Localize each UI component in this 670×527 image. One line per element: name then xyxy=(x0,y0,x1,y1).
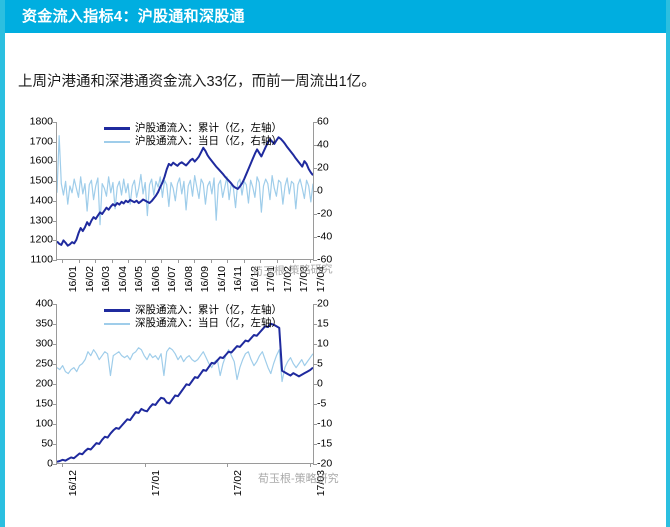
right-axis-tick-label: -20 xyxy=(317,459,332,470)
x-axis-tick xyxy=(310,463,311,467)
chart1-legend-label-cumulative: 沪股通流入：累计（亿，左轴） xyxy=(135,122,282,135)
x-axis-tick xyxy=(211,259,212,263)
left-axis-tick xyxy=(53,444,57,445)
series-line xyxy=(57,348,313,382)
x-axis-tick-label: 16/04 xyxy=(117,266,129,292)
left-axis-tick-label: 1100 xyxy=(30,255,53,266)
left-axis-tick xyxy=(53,240,57,241)
left-axis-tick-label: 1200 xyxy=(30,235,53,246)
right-axis-tick-label: 10 xyxy=(317,339,329,350)
left-axis-tick-label: 1400 xyxy=(30,195,53,206)
left-axis-tick xyxy=(53,201,57,202)
chart1-legend-item-daily: 沪股通流入：当日（亿，右轴） xyxy=(104,135,282,148)
left-axis-tick-label: 0 xyxy=(47,459,53,470)
x-axis-tick-label: 16/12 xyxy=(67,470,79,496)
x-axis-tick-label: 16/03 xyxy=(100,266,112,292)
chart1-legend-label-daily: 沪股通流入：当日（亿，右轴） xyxy=(135,135,282,148)
left-axis-tick-label: 400 xyxy=(35,299,53,310)
left-axis-tick-label: 100 xyxy=(35,419,53,430)
x-axis-tick-label: 16/06 xyxy=(150,266,162,292)
right-axis-tick-label: -20 xyxy=(317,209,332,220)
left-axis-tick xyxy=(53,304,57,305)
left-axis-tick-label: 350 xyxy=(35,319,53,330)
left-axis-tick xyxy=(53,161,57,162)
chart1-legend-item-cumulative: 沪股通流入：累计（亿，左轴） xyxy=(104,122,282,135)
left-axis-tick-label: 1300 xyxy=(30,215,53,226)
x-axis-tick-label: 16/10 xyxy=(216,266,228,292)
legend-swatch-cumulative xyxy=(104,309,130,312)
left-axis-tick-label: 1600 xyxy=(30,156,53,167)
right-axis-tick-label: 0 xyxy=(317,186,323,197)
left-axis-tick xyxy=(53,344,57,345)
watermark-chart2: 荀玉根-策略研究 xyxy=(258,470,339,486)
x-axis-tick xyxy=(62,259,63,263)
left-axis-tick xyxy=(53,324,57,325)
right-axis-tick-label: 15 xyxy=(317,319,329,330)
right-axis-tick-label: -15 xyxy=(317,439,332,450)
left-axis-tick xyxy=(53,221,57,222)
x-axis-tick-label: 16/09 xyxy=(199,266,211,292)
left-axis-tick-label: 1800 xyxy=(30,117,53,128)
left-axis-tick-label: 300 xyxy=(35,339,53,350)
x-axis-tick xyxy=(62,463,63,467)
right-axis-tick-label: -40 xyxy=(317,232,332,243)
x-axis-tick xyxy=(95,259,96,263)
x-axis-tick xyxy=(227,463,228,467)
watermark-chart1: 荀玉根-策略研究 xyxy=(252,261,333,280)
chart2-legend-label-cumulative: 深股通流入：累计（亿，左轴） xyxy=(135,304,282,317)
x-axis-tick-label: 16/08 xyxy=(183,266,195,292)
left-axis-tick xyxy=(53,464,57,465)
left-axis-tick-label: 50 xyxy=(41,439,53,450)
x-axis-tick xyxy=(161,259,162,263)
x-axis-tick xyxy=(194,259,195,263)
series-line xyxy=(57,324,313,462)
right-axis-tick-label: 5 xyxy=(317,359,323,370)
right-axis-tick-label: 40 xyxy=(317,140,329,151)
left-axis-tick xyxy=(53,260,57,261)
legend-swatch-cumulative xyxy=(104,127,130,130)
left-axis-tick-label: 250 xyxy=(35,359,53,370)
right-axis-tick-label: 20 xyxy=(317,299,329,310)
right-axis-tick-label: 20 xyxy=(317,163,329,174)
right-axis-tick-label: 0 xyxy=(317,379,323,390)
x-axis-tick-label: 16/11 xyxy=(232,266,244,292)
x-axis-tick-label: 16/05 xyxy=(133,266,145,292)
x-axis-tick-label: 16/01 xyxy=(67,266,79,292)
left-axis-tick xyxy=(53,142,57,143)
left-axis-tick-label: 1500 xyxy=(30,176,53,187)
chart2-legend: 深股通流入：累计（亿，左轴） 深股通流入：当日（亿，左轴） xyxy=(104,304,282,330)
x-axis-tick-label: 16/02 xyxy=(84,266,96,292)
x-axis-tick xyxy=(227,259,228,263)
legend-swatch-daily xyxy=(104,323,130,325)
x-axis-tick xyxy=(244,259,245,263)
x-axis-tick xyxy=(145,463,146,467)
page-title: 资金流入指标4：沪股通和深股通 xyxy=(22,6,245,27)
legend-swatch-daily xyxy=(104,141,130,143)
series-line xyxy=(57,136,313,225)
left-axis-tick-label: 150 xyxy=(35,399,53,410)
x-axis-tick-label: 16/07 xyxy=(166,266,178,292)
left-axis-tick xyxy=(53,424,57,425)
report-card: 资金流入指标4：沪股通和深股通 上周沪港通和深港通资金流入33亿，而前一周流出1… xyxy=(0,0,670,527)
left-axis-tick xyxy=(53,404,57,405)
right-accent-bar xyxy=(666,0,670,527)
left-axis-tick-label: 200 xyxy=(35,379,53,390)
x-axis-tick xyxy=(145,259,146,263)
chart2-legend-item-cumulative: 深股通流入：累计（亿，左轴） xyxy=(104,304,282,317)
left-accent-bar xyxy=(0,0,5,527)
x-axis-tick xyxy=(112,259,113,263)
x-axis-tick xyxy=(178,259,179,263)
right-axis-tick-label: 60 xyxy=(317,117,329,128)
left-axis-tick xyxy=(53,122,57,123)
chart2-legend-item-daily: 深股通流入：当日（亿，左轴） xyxy=(104,317,282,330)
left-axis-tick xyxy=(53,364,57,365)
x-axis-tick xyxy=(79,259,80,263)
right-axis-tick-label: -10 xyxy=(317,419,332,430)
right-axis-tick-label: -5 xyxy=(317,399,326,410)
x-axis-tick-label: 17/02 xyxy=(232,470,244,496)
x-axis-tick-label: 17/01 xyxy=(150,470,162,496)
left-axis-tick xyxy=(53,384,57,385)
chart1-legend: 沪股通流入：累计（亿，左轴） 沪股通流入：当日（亿，右轴） xyxy=(104,122,282,148)
left-axis-tick-label: 1700 xyxy=(30,136,53,147)
x-axis-tick xyxy=(128,259,129,263)
chart2-legend-label-daily: 深股通流入：当日（亿，左轴） xyxy=(135,317,282,330)
summary-text: 上周沪港通和深港通资金流入33亿，而前一周流出1亿。 xyxy=(18,70,376,91)
left-axis-tick xyxy=(53,181,57,182)
